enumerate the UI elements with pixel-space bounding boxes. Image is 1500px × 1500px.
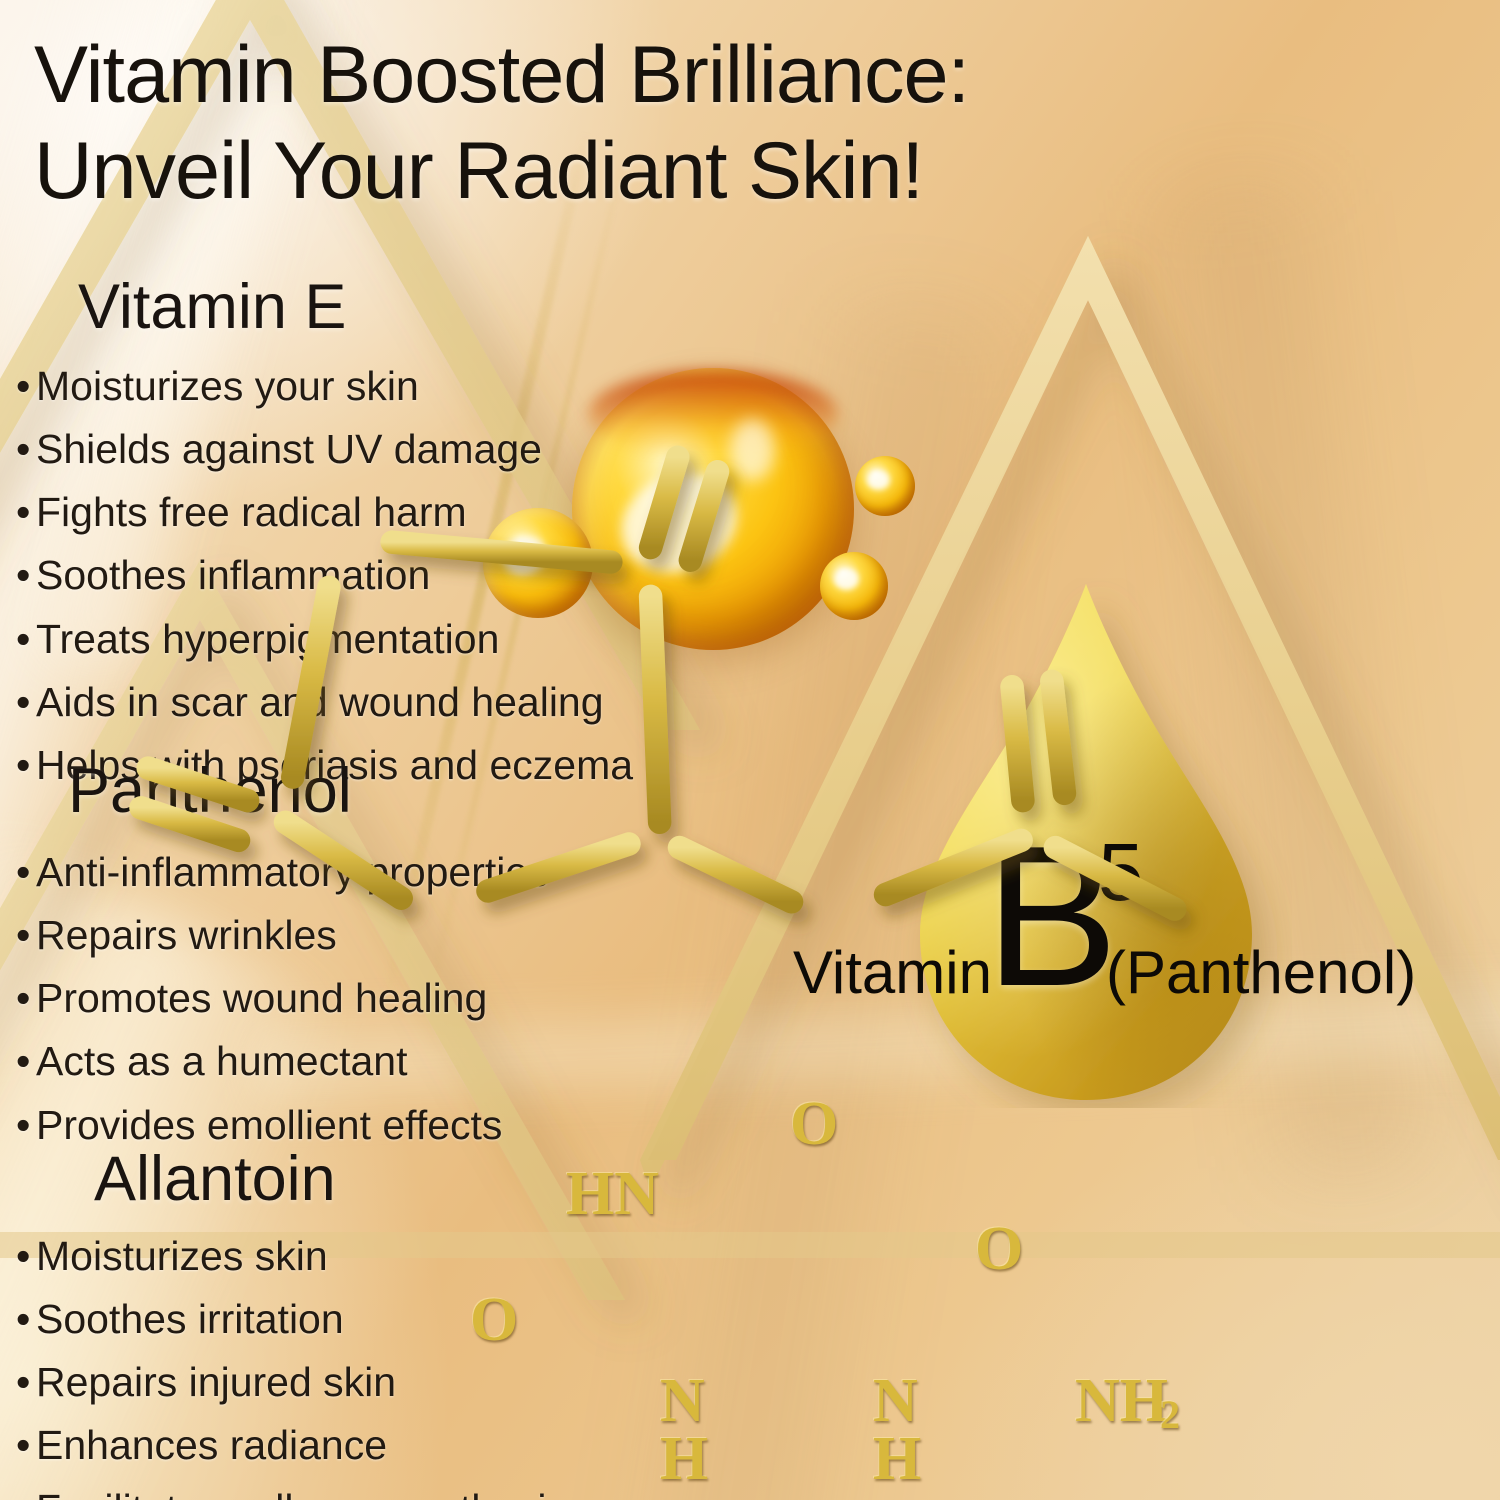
poster-canvas: Vitamin Boosted Brilliance: Unveil Your … (0, 0, 1500, 1500)
atom-label-h: H (660, 1428, 708, 1490)
atom-label-o: O (975, 1218, 1023, 1280)
atom-label-o: O (470, 1289, 518, 1351)
allantoin-structure-diagram (0, 0, 1500, 1500)
atom-label-o: O (790, 1093, 838, 1155)
atom-label-n: N (873, 1370, 918, 1432)
atom-label-nh: NH (1075, 1370, 1168, 1432)
atom-label-h: H (873, 1428, 921, 1490)
atom-label-2: 2 (1160, 1395, 1180, 1435)
atom-label-hn: HN (566, 1163, 659, 1225)
atom-label-n: N (660, 1370, 705, 1432)
